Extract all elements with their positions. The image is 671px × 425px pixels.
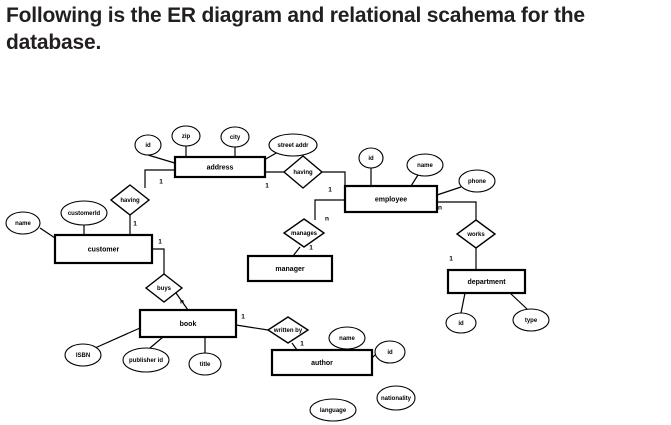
attribute-label: nationality bbox=[381, 396, 412, 402]
edge-book-pubid bbox=[150, 337, 163, 348]
card-employee-manages: n bbox=[325, 216, 329, 223]
card-buys-book: n bbox=[180, 299, 184, 306]
edge-department-type bbox=[510, 293, 527, 309]
relationship-written-by[interactable]: written by bbox=[268, 317, 308, 343]
edge-employee-manages bbox=[315, 200, 345, 220]
attribute-customer-id[interactable]: customerId bbox=[61, 201, 107, 225]
attribute-label: customerId bbox=[68, 211, 101, 217]
attribute-address-zip[interactable]: zip bbox=[172, 126, 200, 146]
entity-label: employee bbox=[375, 196, 407, 203]
attribute-author-id[interactable]: id bbox=[375, 341, 405, 363]
relationship-label: works bbox=[466, 232, 485, 238]
attribute-employee-phone[interactable]: phone bbox=[459, 170, 495, 192]
attribute-book-isbn[interactable]: ISBN bbox=[65, 344, 101, 366]
attribute-label: street addr bbox=[277, 143, 309, 149]
attribute-label: id bbox=[387, 350, 393, 356]
attribute-label: name bbox=[15, 221, 31, 227]
entity-label: address bbox=[207, 164, 234, 171]
card-customer-buys: 1 bbox=[158, 239, 162, 246]
entity-label: customer bbox=[88, 246, 120, 253]
attribute-customer-name[interactable]: name bbox=[6, 212, 40, 234]
er-diagram-canvas: havinghavingmanagesworksbuyswritten by i… bbox=[0, 0, 671, 425]
attribute-employee-id[interactable]: id bbox=[359, 148, 383, 168]
relationship-label: buys bbox=[157, 286, 172, 292]
relationship-manages[interactable]: manages bbox=[284, 219, 324, 247]
er-diagram: havinghavingmanagesworksbuyswritten by i… bbox=[0, 0, 671, 425]
card-works-department: 1 bbox=[449, 256, 453, 263]
card-book-written: 1 bbox=[241, 314, 245, 321]
edge-customer-buys bbox=[152, 249, 164, 274]
relationship-buys[interactable]: buys bbox=[146, 274, 182, 302]
attribute-author-name[interactable]: name bbox=[329, 327, 365, 349]
edge-manages-manager bbox=[293, 247, 300, 256]
edge-employee-phone bbox=[437, 187, 461, 195]
attribute-label: publisher id bbox=[129, 358, 163, 364]
edge-book-isbn bbox=[95, 328, 140, 348]
entity-label: department bbox=[467, 279, 506, 286]
attribute-label: zip bbox=[182, 134, 191, 140]
relationship-label: written by bbox=[273, 328, 303, 334]
attribute-author-language[interactable]: language bbox=[310, 399, 356, 421]
attribute-department-id[interactable]: id bbox=[446, 313, 476, 333]
attribute-label: city bbox=[230, 135, 241, 141]
attribute-employee-name[interactable]: name bbox=[407, 154, 443, 176]
entity-label: author bbox=[311, 360, 333, 367]
entity-address[interactable]: address bbox=[175, 157, 265, 177]
entity-department[interactable]: department bbox=[448, 270, 525, 293]
card-address-left: 1 bbox=[159, 179, 163, 186]
relationship-label: having bbox=[293, 170, 313, 176]
edge-department-id bbox=[461, 293, 465, 313]
card-employee-works: n bbox=[438, 205, 442, 212]
relationship-having-address-employee[interactable]: having bbox=[284, 156, 322, 188]
card-written-author: 1 bbox=[300, 341, 304, 348]
card-address-right: 1 bbox=[265, 183, 269, 190]
edge-book-written bbox=[236, 325, 268, 330]
attribute-label: type bbox=[525, 318, 538, 324]
attribute-book-publisher-id[interactable]: publisher id bbox=[123, 348, 169, 372]
relationship-having-customer-address[interactable]: having bbox=[111, 185, 149, 215]
card-employee-having: 1 bbox=[328, 187, 332, 194]
entity-employee[interactable]: employee bbox=[345, 186, 437, 212]
attribute-department-type[interactable]: type bbox=[513, 309, 549, 331]
entity-manager[interactable]: manager bbox=[248, 256, 332, 281]
attribute-label: id bbox=[368, 156, 374, 162]
attribute-label: ISBN bbox=[76, 353, 90, 359]
attribute-label: language bbox=[320, 408, 347, 414]
relationship-label: manages bbox=[291, 231, 318, 237]
entity-customer[interactable]: customer bbox=[55, 235, 152, 263]
attribute-label: name bbox=[417, 163, 433, 169]
entity-book[interactable]: book bbox=[140, 310, 236, 337]
attribute-label: title bbox=[200, 362, 211, 368]
attribute-author-nationality[interactable]: nationality bbox=[377, 386, 415, 410]
attribute-label: id bbox=[458, 321, 464, 327]
edge-employee-works bbox=[437, 202, 476, 220]
attribute-label: name bbox=[339, 336, 355, 342]
relationship-works[interactable]: works bbox=[457, 220, 495, 248]
attribute-address-id[interactable]: id bbox=[135, 135, 161, 155]
entity-label: manager bbox=[275, 266, 304, 273]
attribute-label: id bbox=[145, 143, 151, 149]
edge-employee-name bbox=[411, 175, 418, 186]
attribute-book-title[interactable]: title bbox=[189, 353, 221, 375]
card-having-customer: 1 bbox=[133, 221, 137, 228]
attribute-address-city[interactable]: city bbox=[221, 127, 249, 147]
edge-havingR-employee bbox=[322, 172, 345, 186]
attribute-address-street[interactable]: street addr bbox=[269, 134, 317, 156]
relationship-label: having bbox=[120, 198, 140, 204]
attribute-label: phone bbox=[468, 179, 487, 185]
entity-label: book bbox=[180, 321, 197, 328]
edge-address-id bbox=[148, 155, 178, 164]
entity-author[interactable]: author bbox=[272, 350, 372, 375]
card-manages-manager: 1 bbox=[309, 245, 313, 252]
